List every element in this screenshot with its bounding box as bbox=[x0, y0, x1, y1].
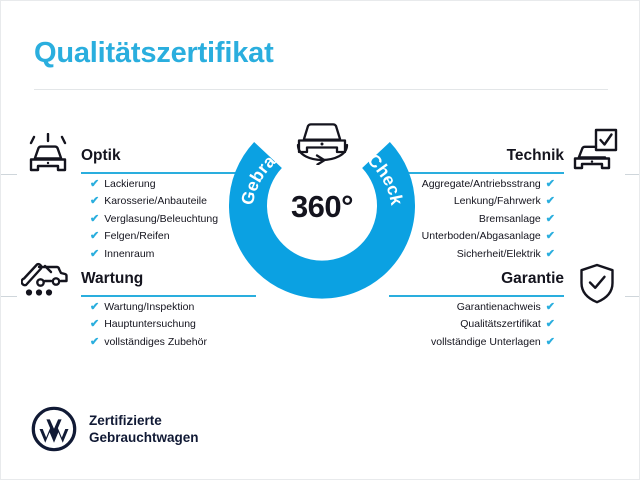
check-icon: ✔ bbox=[546, 193, 555, 210]
section-technik-list: Aggregate/Antriebsstrang✔ Lenkung/Fahrwe… bbox=[389, 176, 564, 263]
section-technik-title: Technik bbox=[389, 146, 564, 166]
car-shine-icon bbox=[23, 133, 73, 183]
check-icon: ✔ bbox=[546, 299, 555, 316]
list-item-label: Innenraum bbox=[104, 246, 154, 263]
section-garantie-title: Garantie bbox=[389, 269, 564, 289]
list-item-label: Verglasung/Beleuchtung bbox=[104, 211, 218, 228]
guide-line-right-top bbox=[625, 174, 640, 175]
check-icon: ✔ bbox=[546, 334, 555, 351]
section-garantie: Garantie Garantienachweis✔ Qualitätszert… bbox=[389, 269, 564, 351]
shield-check-icon bbox=[576, 262, 618, 311]
list-item: Garantienachweis✔ bbox=[389, 299, 564, 316]
list-item-label: Lackierung bbox=[104, 176, 155, 193]
car-jack-icon bbox=[21, 259, 73, 309]
section-garantie-divider bbox=[389, 295, 564, 297]
check-icon: ✔ bbox=[90, 299, 99, 316]
check-icon: ✔ bbox=[90, 334, 99, 351]
list-item: Sicherheit/Elektrik✔ bbox=[389, 246, 564, 263]
list-item-label: Lenkung/Fahrwerk bbox=[454, 193, 541, 210]
car-rotate-icon bbox=[290, 109, 354, 165]
check-icon: ✔ bbox=[546, 211, 555, 228]
list-item: vollständige Unterlagen✔ bbox=[389, 334, 564, 351]
check-icon: ✔ bbox=[546, 228, 555, 245]
list-item: ✔vollständiges Zubehör bbox=[81, 334, 256, 351]
list-item-label: Karosserie/Anbauteile bbox=[104, 193, 207, 210]
check-icon: ✔ bbox=[546, 316, 555, 333]
section-technik-divider bbox=[389, 172, 564, 174]
vw-logo-icon bbox=[31, 406, 77, 452]
list-item: Bremsanlage✔ bbox=[389, 211, 564, 228]
check-icon: ✔ bbox=[90, 228, 99, 245]
list-item-label: Unterboden/Abgasanlage bbox=[422, 228, 541, 245]
check-icon: ✔ bbox=[90, 176, 99, 193]
section-garantie-list: Garantienachweis✔ Qualitätszertifikat✔ v… bbox=[389, 299, 564, 351]
badge-360-gebrauchtwagen-check: Gebrauchtwagen-Check 360° bbox=[229, 119, 415, 305]
section-wartung-list: ✔Wartung/Inspektion ✔Hauptuntersuchung ✔… bbox=[81, 299, 256, 351]
badge-center-label: 360° bbox=[229, 189, 415, 225]
vw-logo-line2: Gebrauchtwagen bbox=[89, 429, 199, 446]
list-item-label: Bremsanlage bbox=[479, 211, 541, 228]
section-technik: Technik Aggregate/Antriebsstrang✔ Lenkun… bbox=[389, 146, 564, 263]
list-item: ✔Hauptuntersuchung bbox=[81, 316, 256, 333]
section-technik-header: Technik bbox=[389, 146, 564, 176]
vw-logo-line1: Zertifizierte bbox=[89, 412, 199, 429]
list-item: Aggregate/Antriebsstrang✔ bbox=[389, 176, 564, 193]
title-divider bbox=[34, 89, 608, 90]
check-icon: ✔ bbox=[90, 246, 99, 263]
list-item-label: Aggregate/Antriebsstrang bbox=[422, 176, 541, 193]
guide-line-left-bottom bbox=[1, 296, 17, 297]
list-item-label: vollständiges Zubehör bbox=[104, 334, 207, 351]
list-item: Qualitätszertifikat✔ bbox=[389, 316, 564, 333]
certificate-page: Qualitätszertifikat Optik ✔Lackierung ✔K… bbox=[0, 0, 640, 480]
check-icon: ✔ bbox=[546, 176, 555, 193]
check-icon: ✔ bbox=[90, 316, 99, 333]
check-icon: ✔ bbox=[90, 211, 99, 228]
page-title: Qualitätszertifikat bbox=[34, 37, 274, 70]
list-item-label: Garantienachweis bbox=[457, 299, 541, 316]
car-checkbox-icon bbox=[570, 127, 620, 177]
list-item: Lenkung/Fahrwerk✔ bbox=[389, 193, 564, 210]
list-item: Unterboden/Abgasanlage✔ bbox=[389, 228, 564, 245]
guide-line-left-top bbox=[1, 174, 17, 175]
list-item-label: Qualitätszertifikat bbox=[460, 316, 541, 333]
vw-certified-logo: Zertifizierte Gebrauchtwagen bbox=[31, 406, 199, 452]
vw-logo-text: Zertifizierte Gebrauchtwagen bbox=[89, 412, 199, 446]
guide-line-right-bottom bbox=[625, 296, 640, 297]
list-item-label: vollständige Unterlagen bbox=[431, 334, 541, 351]
check-icon: ✔ bbox=[546, 246, 555, 263]
list-item-label: Sicherheit/Elektrik bbox=[457, 246, 541, 263]
section-garantie-header: Garantie bbox=[389, 269, 564, 299]
list-item-label: Hauptuntersuchung bbox=[104, 316, 196, 333]
list-item-label: Wartung/Inspektion bbox=[104, 299, 194, 316]
check-icon: ✔ bbox=[90, 193, 99, 210]
list-item-label: Felgen/Reifen bbox=[104, 228, 169, 245]
